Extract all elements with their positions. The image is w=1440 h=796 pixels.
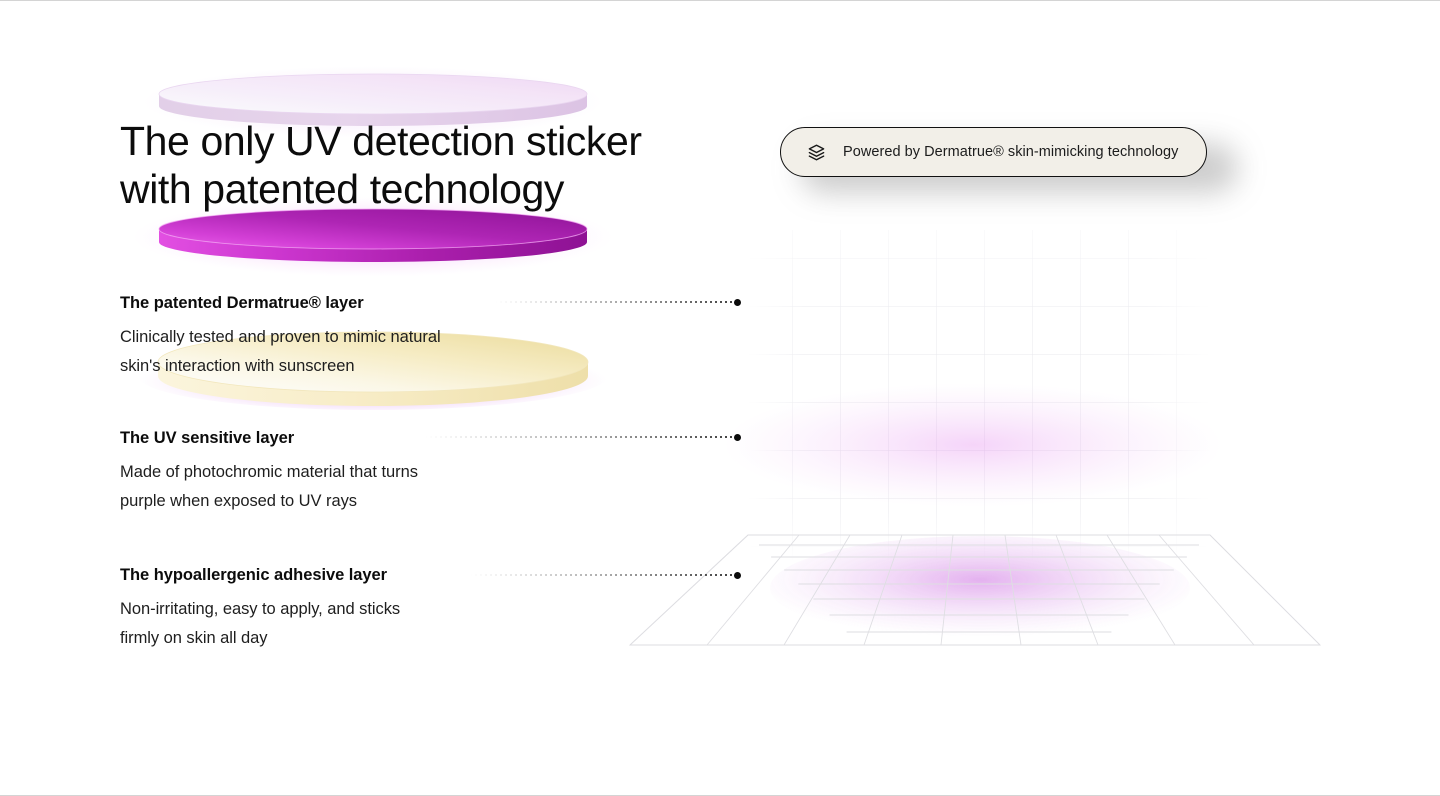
uv-sensitive-disc bbox=[157, 207, 589, 263]
technology-badge[interactable]: Powered by Dermatrue® skin-mimicking tec… bbox=[780, 127, 1207, 177]
headline-line-2: with patented technology bbox=[120, 165, 740, 213]
layer-note-uv-sensitive: The UV sensitive layer Made of photochro… bbox=[120, 427, 520, 516]
layer-note-body: Clinically tested and proven to mimic na… bbox=[120, 323, 520, 381]
perspective-floor-grid bbox=[630, 535, 1320, 645]
leader-endpoint-dot bbox=[734, 434, 741, 441]
hero-section: The only UV detection sticker with paten… bbox=[0, 0, 1440, 796]
leader-endpoint-dot bbox=[734, 299, 741, 306]
leader-dots bbox=[495, 301, 733, 303]
leader-line-dermatrue bbox=[495, 297, 741, 307]
layer-note-dermatrue: The patented Dermatrue® layer Clinically… bbox=[120, 292, 520, 381]
badge-label: Powered by Dermatrue® skin-mimicking tec… bbox=[843, 145, 1178, 160]
layer-note-adhesive: The hypoallergenic adhesive layer Non-ir… bbox=[120, 564, 520, 653]
layer-note-body: Made of photochromic material that turns… bbox=[120, 458, 520, 516]
layer-note-body-line-1: Non-irritating, easy to apply, and stick… bbox=[120, 595, 520, 624]
page-title: The only UV detection sticker with paten… bbox=[120, 117, 740, 213]
technology-badge-wrapper: Powered by Dermatrue® skin-mimicking tec… bbox=[780, 127, 1207, 177]
layer-note-body: Non-irritating, easy to apply, and stick… bbox=[120, 595, 520, 653]
layer-note-body-line-2: skin's interaction with sunscreen bbox=[120, 352, 520, 381]
layer-note-title: The patented Dermatrue® layer bbox=[120, 292, 520, 314]
layers-icon bbox=[807, 143, 826, 162]
layer-note-body-line-2: firmly on skin all day bbox=[120, 624, 520, 653]
layer-note-body-line-1: Made of photochromic material that turns bbox=[120, 458, 520, 487]
layer-note-body-line-2: purple when exposed to UV rays bbox=[120, 487, 520, 516]
layer-note-title: The UV sensitive layer bbox=[120, 427, 520, 449]
page-top-rule bbox=[0, 0, 1440, 1]
leader-endpoint-dot bbox=[734, 572, 741, 579]
layer-note-body-line-1: Clinically tested and proven to mimic na… bbox=[120, 323, 520, 352]
headline-line-1: The only UV detection sticker bbox=[120, 118, 642, 164]
layer-note-title: The hypoallergenic adhesive layer bbox=[120, 564, 520, 586]
